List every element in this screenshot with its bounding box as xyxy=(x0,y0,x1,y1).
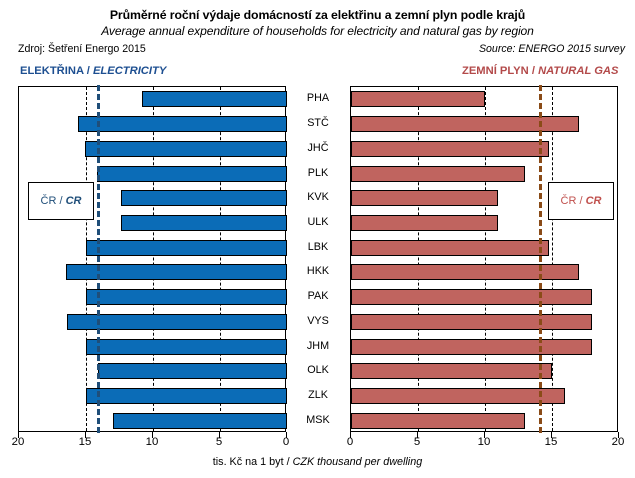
chart-electricity-bar-row xyxy=(19,314,285,330)
chart-electricity-tick-label: 10 xyxy=(146,436,159,448)
chart-gas-tick-label: 5 xyxy=(414,436,420,448)
category-label-STČ: STČ xyxy=(286,115,350,131)
chart-electricity-bar-VYS xyxy=(67,314,287,330)
chart-gas-bar-row xyxy=(351,339,617,355)
chart-gas-bar-row xyxy=(351,91,617,107)
chart-electricity-bar-ZLK xyxy=(86,388,287,404)
chart-gas-bar-row xyxy=(351,413,617,429)
chart-gas-bar-PHA xyxy=(351,91,485,107)
category-label-HKK: HKK xyxy=(286,263,350,279)
chart-electricity-bar-row xyxy=(19,91,285,107)
chart-electricity-gridline xyxy=(153,87,154,431)
chart-electricity-gridline xyxy=(220,87,221,431)
chart-gas-bar-row xyxy=(351,166,617,182)
category-label-PHA: PHA xyxy=(286,90,350,106)
chart-electricity-bar-row xyxy=(19,264,285,280)
reference-annotation-electricity-sep: / xyxy=(56,195,65,207)
category-label-PLK: PLK xyxy=(286,165,350,181)
chart-gas-bar-KVK xyxy=(351,190,498,206)
chart-electricity-bar-row xyxy=(19,116,285,132)
category-label-ULK: ULK xyxy=(286,214,350,230)
reference-annotation-electricity-en: CR xyxy=(66,195,82,207)
chart-electricity-bar-row xyxy=(19,289,285,305)
chart-gas-bar-row xyxy=(351,314,617,330)
chart-gas-plot-area xyxy=(350,86,618,432)
chart-electricity-bar-row xyxy=(19,166,285,182)
category-label-JHM: JHM xyxy=(286,338,350,354)
reference-annotation-gas: ČR / CR xyxy=(548,182,614,220)
chart-gas-bar-row xyxy=(351,240,617,256)
category-label-MSK: MSK xyxy=(286,412,350,428)
chart-electricity-tick-label: 20 xyxy=(12,436,25,448)
chart-gas-bar-LBK xyxy=(351,240,549,256)
reference-annotation-gas-en: CR xyxy=(586,195,602,207)
chart-gas-bar-row xyxy=(351,289,617,305)
chart-gas-tick-label: 0 xyxy=(347,436,353,448)
chart-gas-tick-label: 20 xyxy=(612,436,625,448)
chart-electricity-bar-KVK xyxy=(121,190,287,206)
chart-gas-bar-OLK xyxy=(351,363,552,379)
unit-caption-cs: tis. Kč na 1 byt xyxy=(213,456,284,468)
chart-electricity-bar-MSK xyxy=(113,413,287,429)
chart-gas-bar-STČ xyxy=(351,116,579,132)
chart-gas-tick-label: 15 xyxy=(545,436,558,448)
chart-electricity-tick-label: 5 xyxy=(216,436,222,448)
chart-electricity-bar-row xyxy=(19,141,285,157)
chart-electricity-bar-ULK xyxy=(121,215,287,231)
chart-electricity-bar-row xyxy=(19,413,285,429)
category-label-OLK: OLK xyxy=(286,362,350,378)
chart-electricity-bar-PAK xyxy=(86,289,287,305)
unit-caption-en: CZK thousand per dwelling xyxy=(293,456,423,468)
chart-gas-bar-PLK xyxy=(351,166,525,182)
chart-electricity-bar-row xyxy=(19,240,285,256)
reference-annotation-gas-cs: ČR xyxy=(561,195,577,207)
unit-caption-sep: / xyxy=(284,456,293,468)
chart-gas-bar-row xyxy=(351,264,617,280)
chart-gas-bar-JHČ xyxy=(351,141,549,157)
unit-caption: tis. Kč na 1 byt / CZK thousand per dwel… xyxy=(0,456,635,468)
category-label-VYS: VYS xyxy=(286,313,350,329)
chart-electricity-bar-STČ xyxy=(78,116,287,132)
chart-electricity-gridline xyxy=(86,87,87,431)
chart-gas-bar-PAK xyxy=(351,289,592,305)
chart-gas-bar-row xyxy=(351,116,617,132)
chart-gas-gridline xyxy=(485,87,486,431)
category-label-KVK: KVK xyxy=(286,189,350,205)
chart-gas-bar-row xyxy=(351,363,617,379)
chart-electricity-tick-label: 0 xyxy=(283,436,289,448)
chart-electricity-bar-PHA xyxy=(142,91,287,107)
chart-electricity-reference-line xyxy=(97,85,100,433)
chart-electricity-bar-LBK xyxy=(86,240,287,256)
chart-gas-bar-JHM xyxy=(351,339,592,355)
chart-electricity-bar-PLK xyxy=(97,166,287,182)
chart-electricity-bar-OLK xyxy=(98,363,287,379)
category-label-JHČ: JHČ xyxy=(286,140,350,156)
chart-electricity-plot-area xyxy=(18,86,286,432)
chart-gas-bar-row xyxy=(351,388,617,404)
category-label-ZLK: ZLK xyxy=(286,387,350,403)
chart-gas-bar-ULK xyxy=(351,215,498,231)
chart-gas-bar-ZLK xyxy=(351,388,565,404)
chart-electricity-tick-label: 15 xyxy=(79,436,92,448)
chart-electricity-bar-row xyxy=(19,339,285,355)
chart-gas-bar-HKK xyxy=(351,264,579,280)
chart-gas-bar-MSK xyxy=(351,413,525,429)
chart-gas-tick-label: 10 xyxy=(478,436,491,448)
reference-annotation-electricity: ČR / CR xyxy=(28,182,94,220)
category-label-LBK: LBK xyxy=(286,239,350,255)
chart-gas-bar-row xyxy=(351,141,617,157)
chart-gas-bar-VYS xyxy=(351,314,592,330)
category-label-PAK: PAK xyxy=(286,288,350,304)
chart-electricity-bar-JHM xyxy=(86,339,287,355)
category-label-column: PHASTČJHČPLKKVKULKLBKHKKPAKVYSJHMOLKZLKM… xyxy=(286,86,350,432)
chart-electricity-bar-row xyxy=(19,363,285,379)
chart-electricity-axis-labels: 20151050 xyxy=(18,436,286,452)
chart-electricity-bar-row xyxy=(19,388,285,404)
charts-container: PHASTČJHČPLKKVKULKLBKHKKPAKVYSJHMOLKZLKM… xyxy=(0,0,635,478)
chart-gas-gridline xyxy=(418,87,419,431)
reference-annotation-gas-sep: / xyxy=(576,195,585,207)
chart-gas-reference-line xyxy=(539,85,542,433)
reference-annotation-electricity-cs: ČR xyxy=(41,195,57,207)
chart-gas-axis-labels: 05101520 xyxy=(350,436,618,452)
chart-electricity-bar-JHČ xyxy=(85,141,287,157)
chart-gas-gridline xyxy=(552,87,553,431)
